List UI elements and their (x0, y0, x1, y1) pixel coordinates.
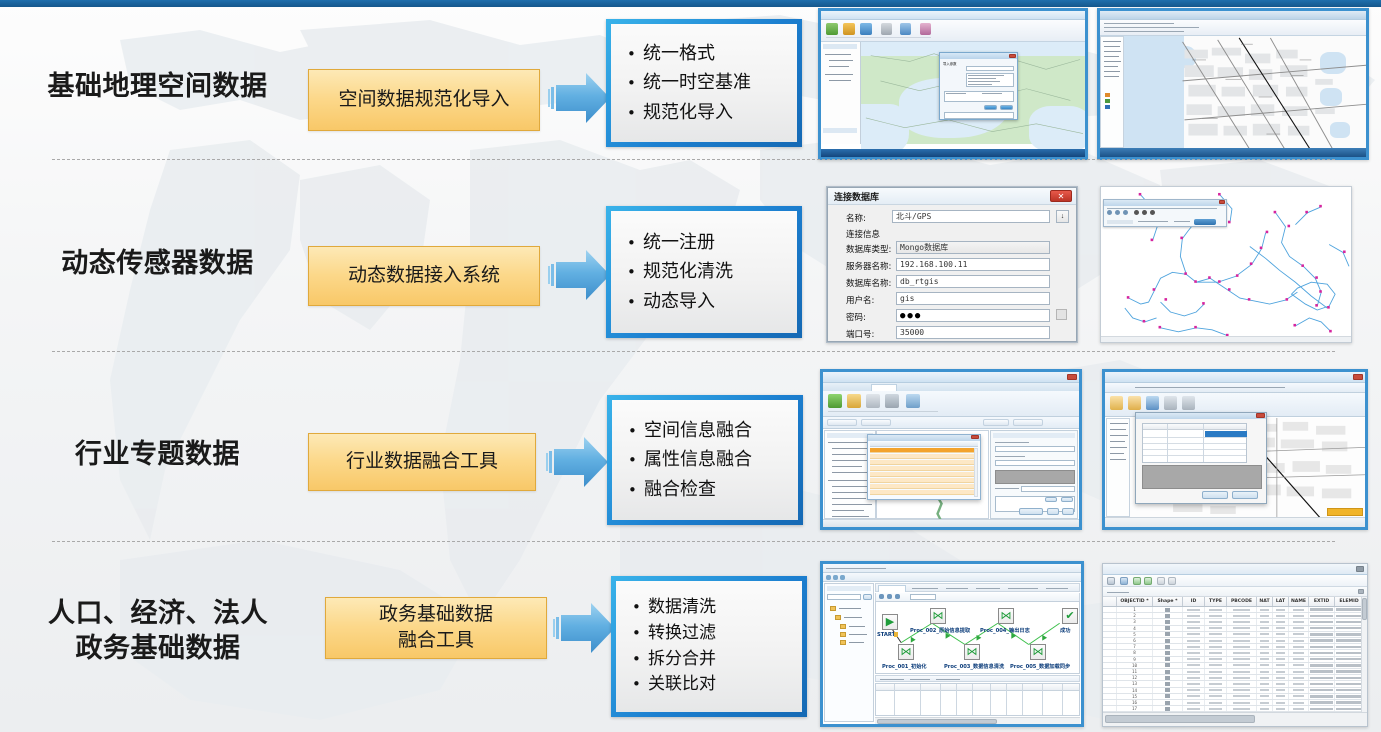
tool-box[interactable]: 政务基础数据 融合工具 (325, 597, 547, 659)
search-button[interactable] (863, 594, 872, 600)
close-icon[interactable]: ✕ (1050, 190, 1072, 202)
bullet-dot: • (628, 448, 644, 472)
toolbar-icon (843, 23, 855, 35)
ribbon-tab[interactable] (871, 384, 897, 391)
check-icon: ✔ (1065, 611, 1074, 622)
bullet-list: • 统一格式 • 统一时空基准 • 规范化导入 (611, 24, 797, 142)
table-cell (1227, 650, 1257, 655)
transform-icon: ⋈ (1033, 647, 1044, 658)
connect-database-dialog[interactable]: 连接数据库 ✕ 名称: 北斗/GPS ↓ 连接信息 数据库类型: Mongo数据… (827, 187, 1077, 342)
table-cell (1257, 663, 1273, 668)
table-cell (1309, 650, 1335, 655)
table-cell (1205, 681, 1227, 686)
horizontal-scrollbar[interactable] (875, 717, 1080, 724)
street-basemap-thumbnail[interactable] (1097, 8, 1369, 160)
workflow-node-1[interactable]: ⋈ (898, 644, 914, 660)
table-cell (1289, 626, 1309, 631)
table-cell (1257, 632, 1273, 637)
table-cell (1289, 669, 1309, 674)
bullet-label: 属性信息融合 (644, 445, 752, 474)
table-cell (1289, 632, 1309, 637)
toolbar[interactable] (823, 573, 1081, 582)
table-cell: 10 (1117, 663, 1153, 668)
table-cell: 7 (1117, 644, 1153, 649)
etl-workflow-thumbnail[interactable]: ▶ START ⋈ Proc_001_初始化 ⋈ Proc_002_原始信息提取… (820, 561, 1084, 727)
log-grid[interactable] (875, 683, 1080, 716)
bullet-box: • 空间信息融合 • 属性信息融合 • 融合检查 (607, 395, 803, 525)
table-cell (1227, 675, 1257, 680)
attribute-fusion-map-thumbnail[interactable] (1102, 369, 1368, 530)
workflow-node-4[interactable]: ⋈ (998, 608, 1014, 624)
bullet-item: • 统一注册 (627, 228, 787, 257)
table-cell (1273, 669, 1289, 674)
table-cell (1289, 638, 1309, 643)
layer-tree-panel[interactable] (821, 42, 861, 144)
table-cell (1257, 638, 1273, 643)
table-cell (1227, 663, 1257, 668)
toolbar-button[interactable] (983, 419, 1009, 426)
table-header-cell[interactable]: OBJECTID * (1117, 597, 1153, 606)
window-titlebar (1105, 372, 1365, 383)
scrollbar-thumb[interactable] (877, 719, 997, 724)
table-cell (1257, 619, 1273, 624)
table-cell (1289, 619, 1309, 624)
panel-icon[interactable] (1142, 210, 1147, 215)
table-cell (1205, 632, 1227, 637)
table-header-cell[interactable]: LAT (1273, 597, 1289, 606)
workflow-links (876, 602, 1079, 673)
toolbar-icon[interactable] (1157, 577, 1165, 585)
map-canvas[interactable] (1124, 36, 1366, 148)
toolbar-icon[interactable] (826, 575, 831, 580)
zoom-select[interactable] (910, 594, 936, 600)
table-cell (1205, 619, 1227, 624)
port-input[interactable]: 35000 (896, 326, 1050, 339)
table-cell (1309, 607, 1335, 612)
table-cell (1289, 663, 1309, 668)
table-cell (1289, 700, 1309, 705)
tree-item (829, 60, 853, 61)
data-fusion-tool-thumbnail[interactable] (820, 369, 1082, 530)
table-cell (1103, 619, 1117, 624)
toolbar-icon[interactable] (1120, 577, 1128, 585)
close-icon[interactable] (971, 435, 979, 439)
table-cell (1309, 675, 1335, 680)
status-bar (1101, 336, 1351, 342)
dialog-log (944, 112, 1014, 119)
table-cell (1183, 644, 1205, 649)
table-cell (1205, 688, 1227, 693)
table-cell (1257, 626, 1273, 631)
ribbon-icon[interactable] (866, 394, 880, 408)
table-cell (1273, 613, 1289, 618)
tool-box[interactable]: 空间数据规范化导入 (308, 69, 540, 131)
table-cell (1257, 681, 1273, 686)
table-cell (1227, 700, 1257, 705)
bullet-item: • 融合检查 (628, 475, 788, 504)
panel-button[interactable] (1194, 219, 1216, 225)
table-toolbar[interactable] (1103, 575, 1367, 587)
table-cell (1227, 607, 1257, 612)
table-cell: 3 (1117, 619, 1153, 624)
table-cell (1227, 644, 1257, 649)
project-tree-panel[interactable] (824, 583, 874, 722)
ribbon-toolbar[interactable] (823, 391, 1079, 417)
scrollbar-thumb[interactable] (1105, 715, 1255, 723)
toolbar-icon[interactable] (1133, 577, 1141, 585)
transform-icon: ⋈ (1001, 611, 1012, 622)
show-password-checkbox[interactable] (1056, 309, 1067, 320)
dialog-field[interactable] (966, 66, 1014, 71)
grid-header (876, 684, 1079, 691)
table-cell (1205, 626, 1227, 631)
attribute-table-screenshot: OBJECTID * Shape * ID TYPE PBCODE NAT LA… (1103, 564, 1367, 726)
username-input[interactable]: gis (896, 292, 1050, 305)
table-cell (1153, 650, 1183, 655)
table-cell (1153, 632, 1183, 637)
bullet-dot: • (627, 42, 643, 66)
ribbon-icon[interactable] (1128, 396, 1141, 410)
panel-button[interactable] (1062, 508, 1074, 515)
attribute-grid[interactable] (1142, 423, 1247, 463)
table-tab-bar[interactable] (1103, 587, 1367, 597)
grid-header (1143, 424, 1246, 430)
ribbon-icon[interactable] (828, 394, 842, 408)
field-row-password: 密码: (846, 311, 866, 323)
table-cell (1273, 681, 1289, 686)
table-cell: 6 (1117, 638, 1153, 643)
table-header-cell[interactable]: NAME (1289, 597, 1309, 606)
field-label: 名称: (846, 212, 866, 224)
table-cell (1183, 607, 1205, 612)
track-tool-panel[interactable] (1103, 199, 1227, 227)
table-header-cell[interactable]: NAT (1257, 597, 1273, 606)
table-cell (1257, 700, 1273, 705)
tree-item (825, 74, 853, 75)
table-cell (1227, 632, 1257, 637)
toolbar-icon[interactable] (1144, 577, 1152, 585)
workflow-node-label: 成功 (1060, 627, 1070, 634)
bullet-box: • 数据清洗 • 转换过滤 • 拆分合并 • 关联比对 (611, 576, 807, 717)
workflow-node-start[interactable]: ▶ (882, 614, 898, 630)
table-cell (1257, 694, 1273, 699)
fusion-tool-screenshot (823, 372, 1079, 527)
toolbar-divider (826, 37, 931, 38)
toolbar-icon[interactable] (887, 594, 892, 599)
table-cell (1273, 700, 1289, 705)
table-header-cell[interactable]: ELEMID (1335, 597, 1363, 606)
updown-arrow-icon[interactable]: ↓ (1056, 210, 1069, 223)
panel-button[interactable] (1047, 508, 1059, 515)
table-cell: 16 (1117, 700, 1153, 705)
table-cell (1205, 675, 1227, 680)
table-cell (1183, 706, 1205, 711)
window-titlebar (1100, 11, 1366, 20)
table-cell (1205, 644, 1227, 649)
list-item[interactable] (870, 448, 978, 453)
field-row-server: 服务器名称: (846, 260, 891, 272)
list-item[interactable] (870, 490, 978, 495)
table-cell: 8 (1117, 650, 1153, 655)
attribute-table-thumbnail[interactable]: OBJECTID * Shape * ID TYPE PBCODE NAT LA… (1102, 563, 1368, 727)
table-cell (1273, 626, 1289, 631)
list-item[interactable] (870, 460, 978, 465)
table-cell (1103, 613, 1117, 618)
bullet-item: • 拆分合并 (632, 647, 792, 673)
document-tabs[interactable] (875, 583, 1080, 592)
import-dialog[interactable]: 导入参数 (939, 52, 1018, 120)
gis-map-import-dialog-thumbnail[interactable]: 导入参数 (818, 8, 1088, 160)
preview-box (1142, 465, 1262, 489)
bullet-box: • 统一注册 • 规范化清洗 • 动态导入 (606, 206, 802, 338)
table-cell (1183, 613, 1205, 618)
list-item[interactable] (870, 478, 978, 483)
property-input[interactable] (1021, 486, 1075, 492)
property-input[interactable] (995, 446, 1075, 452)
password-value: ●●● (900, 311, 922, 321)
close-icon[interactable] (1219, 200, 1225, 204)
table-cell (1153, 638, 1183, 643)
status-bar (823, 519, 1079, 527)
table-cell (1153, 675, 1183, 680)
toolbar-button[interactable] (827, 419, 857, 426)
panel-titlebar (1104, 200, 1226, 206)
table-header-cell[interactable]: EXTID (1309, 597, 1335, 606)
tool-box[interactable]: 动态数据接入系统 (308, 246, 540, 306)
bullet-item: • 属性信息融合 (628, 445, 788, 474)
attribute-dialog[interactable] (1135, 412, 1267, 504)
table-cell (1273, 638, 1289, 643)
close-icon[interactable] (1358, 589, 1364, 594)
ribbon-icon[interactable] (1110, 396, 1123, 410)
secondary-toolbar[interactable] (823, 417, 1079, 429)
table-cell (1289, 657, 1309, 662)
workflow-node-label: START (877, 632, 895, 638)
table-cell (1153, 613, 1183, 618)
dialog-cancel-button[interactable] (1000, 105, 1013, 110)
workflow-node-5[interactable]: ⋈ (1030, 644, 1046, 660)
table-cell (1103, 675, 1117, 680)
table-cell (1153, 669, 1183, 674)
table-cell (1257, 644, 1273, 649)
street-map-screenshot (1100, 11, 1366, 157)
ribbon-icon[interactable] (1164, 396, 1177, 410)
table-cell (1153, 644, 1183, 649)
workflow-node-success[interactable]: ✔ (1062, 608, 1078, 624)
table-cell (1227, 638, 1257, 643)
field-row-dbtype: 数据库类型: (846, 243, 891, 255)
confirm-button[interactable] (1202, 491, 1228, 499)
table-cell (1309, 706, 1335, 711)
bullet-item: • 动态导入 (627, 287, 787, 316)
content-rows: 基础地理空间数据 空间数据规范化导入 • 统一格式 • 统一时空基准 • 规范化… (0, 0, 1381, 732)
bullet-item: • 转换过滤 (632, 621, 792, 647)
workflow-node-label: Proc_003_数据信息清洗 (944, 663, 1004, 670)
table-cell (1205, 607, 1227, 612)
table-cell (1257, 607, 1273, 612)
field-label: 密码: (846, 311, 866, 323)
panel-button[interactable] (1045, 497, 1057, 502)
table-header-cell[interactable]: TYPE (1205, 597, 1227, 606)
bullet-list: • 统一注册 • 规范化清洗 • 动态导入 (611, 211, 797, 333)
table-header-cell[interactable]: ID (1183, 597, 1205, 606)
toolbar-icon (900, 23, 911, 35)
table-cell (1205, 694, 1227, 699)
warning-icon (894, 632, 898, 637)
workflow-node-label: Proc_001_初始化 (882, 663, 927, 670)
list-item[interactable] (870, 454, 978, 459)
table-cell: 5 (1117, 632, 1153, 637)
toolbar-icon[interactable] (895, 594, 900, 599)
bullet-item: • 规范化清洗 (627, 257, 787, 286)
close-icon[interactable] (1353, 374, 1363, 380)
close-icon[interactable] (1009, 54, 1016, 58)
canvas-toolbar[interactable] (875, 593, 1080, 601)
table-header-row: OBJECTID * Shape * ID TYPE PBCODE NAT LA… (1103, 597, 1367, 607)
list-item[interactable] (870, 472, 978, 477)
record-list-dialog[interactable] (867, 434, 981, 500)
properties-panel[interactable] (990, 430, 1078, 519)
property-input[interactable] (995, 460, 1075, 466)
cancel-button[interactable] (1232, 491, 1258, 499)
section-label: 连接信息 (846, 228, 880, 240)
workflow-canvas[interactable]: ▶ START ⋈ Proc_001_初始化 ⋈ Proc_002_原始信息提取… (875, 601, 1080, 674)
horizontal-scrollbar[interactable] (1103, 712, 1367, 726)
scrollbar[interactable] (974, 448, 978, 497)
table-cell (1227, 657, 1257, 662)
toolbar-icon[interactable] (840, 575, 845, 580)
table-cell (1273, 694, 1289, 699)
taskbar (1100, 148, 1366, 157)
field-label: 用户名: (846, 294, 874, 306)
apply-button[interactable] (1019, 508, 1043, 515)
list-item[interactable] (870, 484, 978, 489)
database-select[interactable]: db_rtgis (896, 275, 1050, 288)
bullet-dot: • (627, 260, 643, 284)
table-cell: 11 (1117, 669, 1153, 674)
table-cell (1205, 669, 1227, 674)
table-cell (1335, 626, 1363, 631)
bullet-dot: • (627, 101, 643, 125)
ribbon-icon[interactable] (1146, 396, 1159, 410)
connect-database-dialog-thumbnail[interactable]: 连接数据库 ✕ 名称: 北斗/GPS ↓ 连接信息 数据库类型: Mongo数据… (826, 186, 1078, 343)
ribbon-tabs[interactable] (1105, 383, 1365, 393)
table-cell (1335, 657, 1363, 662)
right-arrow-icon (548, 65, 614, 131)
panel-icon[interactable] (1107, 210, 1112, 215)
ribbon-icon[interactable] (1182, 396, 1195, 410)
database-type-select[interactable]: Mongo数据库 (896, 241, 1050, 254)
ribbon-icon[interactable] (847, 394, 861, 408)
table-cell (1273, 650, 1289, 655)
search-input[interactable] (827, 594, 861, 600)
toc-panel[interactable] (1100, 36, 1124, 148)
log-tabs[interactable] (875, 675, 1080, 682)
dialog-titlebar (940, 53, 1017, 59)
close-icon[interactable] (1256, 413, 1265, 418)
close-icon[interactable] (1067, 374, 1077, 380)
table-header-cell[interactable]: Shape * (1153, 597, 1183, 606)
table-cell (1309, 644, 1335, 649)
list-item[interactable] (870, 466, 978, 471)
tool-box[interactable]: 行业数据融合工具 (308, 433, 536, 491)
toolbar-button[interactable] (1013, 419, 1043, 426)
row-dynamic-sensor: 动态传感器数据 动态数据接入系统 • 统一注册 • 规范化清洗 • 动态导入 连… (0, 162, 1381, 350)
table-cell (1257, 650, 1273, 655)
table-cell (1103, 644, 1117, 649)
table-cell (1183, 650, 1205, 655)
workflow-node-3[interactable]: ⋈ (964, 644, 980, 660)
table-cell (1103, 688, 1117, 693)
bullet-label: 规范化清洗 (643, 257, 733, 286)
preview-box (995, 470, 1075, 484)
vertical-scrollbar[interactable] (1361, 597, 1367, 712)
table-body[interactable]: 12345678910111213141516171819 (1103, 607, 1367, 712)
toolbar-icon[interactable] (1107, 577, 1115, 585)
close-icon[interactable] (1356, 566, 1364, 572)
bullet-box: • 统一格式 • 统一时空基准 • 规范化导入 (606, 19, 802, 147)
toolbar-button[interactable] (861, 419, 891, 426)
menu-bar[interactable] (823, 564, 1081, 573)
gps-track-screenshot (1101, 187, 1351, 342)
bullet-label: 拆分合并 (648, 647, 716, 673)
table-cell (1183, 700, 1205, 705)
server-name-select[interactable]: 192.168.100.11 (896, 258, 1050, 271)
layer-panel[interactable] (1106, 418, 1130, 517)
table-cell (1153, 694, 1183, 699)
table-cell (1205, 657, 1227, 662)
table-cell (1309, 619, 1335, 624)
workflow-node-2[interactable]: ⋈ (930, 608, 946, 624)
table-cell (1309, 663, 1335, 668)
panel-icon[interactable] (1123, 210, 1128, 215)
table-cell (1103, 638, 1117, 643)
password-input[interactable]: ●●● (896, 309, 1050, 322)
panel-button[interactable] (1061, 497, 1073, 502)
scrollbar-thumb[interactable] (1362, 598, 1367, 620)
dialog-ok-button[interactable] (984, 105, 997, 110)
toolbar-icon[interactable] (833, 575, 838, 580)
table-cell (1153, 706, 1183, 711)
table-header-cell[interactable] (1103, 597, 1117, 606)
toolbar-icon (860, 23, 872, 35)
toolbar-icon[interactable] (1168, 577, 1176, 585)
panel-icon[interactable] (1150, 210, 1155, 215)
ribbon-icon[interactable] (906, 394, 920, 408)
table-cell (1289, 675, 1309, 680)
panel-icon[interactable] (1134, 210, 1139, 215)
database-name-input[interactable]: 北斗/GPS (892, 210, 1050, 223)
table-cell (1183, 694, 1205, 699)
right-arrow-icon (546, 429, 612, 495)
panel-icon[interactable] (1115, 210, 1120, 215)
table-header-cell[interactable]: PBCODE (1227, 597, 1257, 606)
table-cell (1273, 706, 1289, 711)
dialog-titlebar (868, 435, 980, 441)
workflow-node-label: Proc_004_输出日志 (980, 627, 1030, 634)
table-cell (1309, 657, 1335, 662)
transform-icon: ⋈ (933, 611, 944, 622)
table-cell (1289, 650, 1309, 655)
toolbar-icon[interactable] (879, 594, 884, 599)
bullet-label: 统一格式 (643, 39, 715, 68)
field-label: 数据库类型: (846, 243, 891, 255)
ribbon-icon[interactable] (885, 394, 899, 408)
toolbar-icon (881, 23, 892, 35)
table-cell (1257, 657, 1273, 662)
ribbon-tabs[interactable] (823, 383, 1079, 391)
gps-track-thumbnail[interactable] (1100, 186, 1352, 343)
